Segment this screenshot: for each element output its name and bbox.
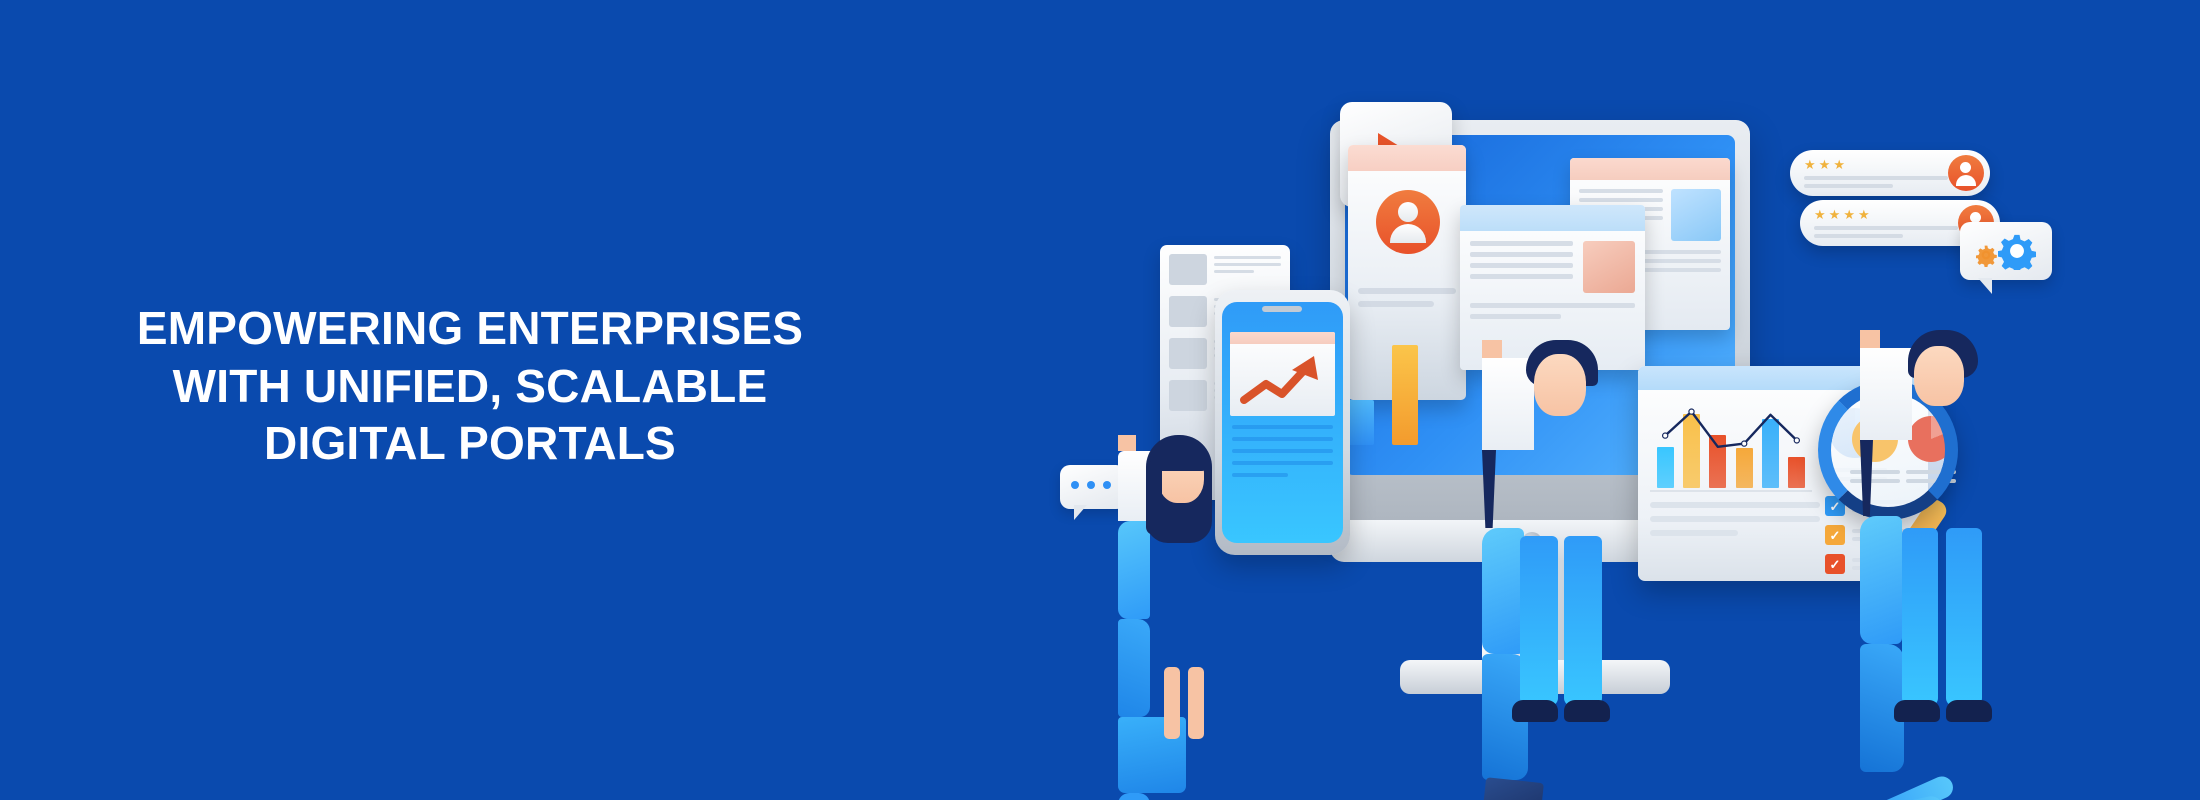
person-man-with-telescope bbox=[1860, 330, 2030, 760]
trend-point bbox=[1742, 441, 1747, 446]
neck bbox=[1482, 340, 1502, 358]
necktie bbox=[1860, 440, 1873, 516]
headline-line-1: EMPOWERING ENTERPRISES bbox=[60, 300, 880, 358]
leg-left bbox=[1520, 536, 1558, 706]
star-icon: ★ bbox=[1843, 208, 1855, 221]
head bbox=[1534, 354, 1586, 416]
gear-bubble-tail bbox=[1978, 278, 1992, 294]
headline-line-3: DIGITAL PORTALS bbox=[60, 415, 880, 473]
article-card-header bbox=[1460, 205, 1645, 231]
headline-line-2: WITH UNIFIED, SCALABLE bbox=[60, 358, 880, 416]
background-bars bbox=[1348, 340, 1458, 445]
page-title: EMPOWERING ENTERPRISES WITH UNIFIED, SCA… bbox=[60, 300, 880, 473]
checkbox-checked-icon[interactable]: ✓ bbox=[1825, 554, 1845, 574]
chat-bubble-tail bbox=[1074, 505, 1087, 520]
thumbnail-icon bbox=[1169, 338, 1207, 369]
review-text-lines bbox=[1814, 226, 1958, 238]
checkbox-checked-icon[interactable]: ✓ bbox=[1825, 525, 1845, 545]
growth-card-header bbox=[1230, 332, 1335, 344]
necktie bbox=[1482, 450, 1496, 528]
head bbox=[1914, 346, 1964, 406]
jacket-right bbox=[1118, 619, 1150, 717]
shoe-right bbox=[1946, 700, 1992, 722]
arm-upper bbox=[1863, 773, 1956, 800]
neck bbox=[1118, 435, 1136, 451]
thumbnail-icon bbox=[1169, 380, 1207, 411]
neck bbox=[1860, 330, 1880, 348]
list-item bbox=[1169, 254, 1281, 285]
profile-card-header bbox=[1348, 145, 1466, 171]
leg-right bbox=[1564, 536, 1602, 706]
growth-arrow-card bbox=[1230, 332, 1335, 416]
leg-left bbox=[1164, 667, 1180, 739]
rating-stars: ★ ★ ★ ★ bbox=[1814, 208, 1958, 221]
article-card-header bbox=[1570, 158, 1730, 180]
hero-illustration: ✓ ✓ ✓ ★ ★ ★ bbox=[1030, 40, 2170, 780]
star-icon: ★ bbox=[1804, 158, 1816, 171]
rating-stars: ★ ★ ★ bbox=[1804, 158, 1948, 171]
jacket-left bbox=[1860, 516, 1902, 644]
article-text-lines bbox=[1460, 303, 1645, 319]
thumbnail-icon bbox=[1169, 296, 1207, 327]
chart-baseline bbox=[1650, 490, 1812, 492]
user-avatar-icon bbox=[1376, 190, 1440, 254]
chat-dots-icon bbox=[1071, 481, 1111, 489]
shoe-right bbox=[1564, 700, 1610, 722]
person-man-with-folder bbox=[1482, 340, 1642, 760]
thumbnail-icon bbox=[1169, 254, 1207, 285]
user-avatar-icon bbox=[1948, 155, 1984, 191]
trend-point bbox=[1794, 438, 1799, 443]
jacket-left bbox=[1482, 528, 1524, 654]
article-image-icon bbox=[1583, 241, 1635, 293]
leg-right bbox=[1946, 528, 1982, 706]
star-icon: ★ bbox=[1833, 158, 1845, 171]
trend-point bbox=[1663, 433, 1668, 438]
profile-card-text bbox=[1358, 288, 1456, 307]
shoe-left bbox=[1894, 700, 1940, 722]
jacket-left bbox=[1118, 521, 1150, 619]
article-text-lines bbox=[1470, 241, 1573, 293]
gear-icon-small bbox=[1974, 243, 1998, 267]
hero-banner: EMPOWERING ENTERPRISES WITH UNIFIED, SCA… bbox=[0, 0, 2200, 800]
star-icon: ★ bbox=[1814, 208, 1826, 221]
shoe-left bbox=[1118, 793, 1150, 800]
hair-side bbox=[1146, 461, 1162, 535]
folder bbox=[1478, 777, 1544, 800]
trend-point bbox=[1689, 409, 1694, 414]
list-item-lines bbox=[1214, 254, 1281, 285]
leg-right bbox=[1188, 667, 1204, 739]
review-badge: ★ ★ ★ bbox=[1790, 150, 1990, 196]
person-woman-with-clipboard bbox=[1118, 435, 1258, 765]
review-text-lines bbox=[1804, 176, 1948, 188]
growth-arrow-icon bbox=[1230, 344, 1335, 414]
shoe-left bbox=[1512, 700, 1558, 722]
gear-icon-large bbox=[1998, 232, 2036, 270]
shirt bbox=[1860, 348, 1912, 440]
star-icon: ★ bbox=[1858, 208, 1870, 221]
article-image-icon bbox=[1671, 189, 1721, 241]
leg-left bbox=[1902, 528, 1938, 706]
star-icon: ★ bbox=[1829, 208, 1841, 221]
star-icon: ★ bbox=[1819, 158, 1831, 171]
phone-speaker-icon bbox=[1262, 306, 1302, 312]
chart-trend-line bbox=[1652, 396, 1810, 488]
dashboard-text-lines bbox=[1650, 502, 1820, 536]
